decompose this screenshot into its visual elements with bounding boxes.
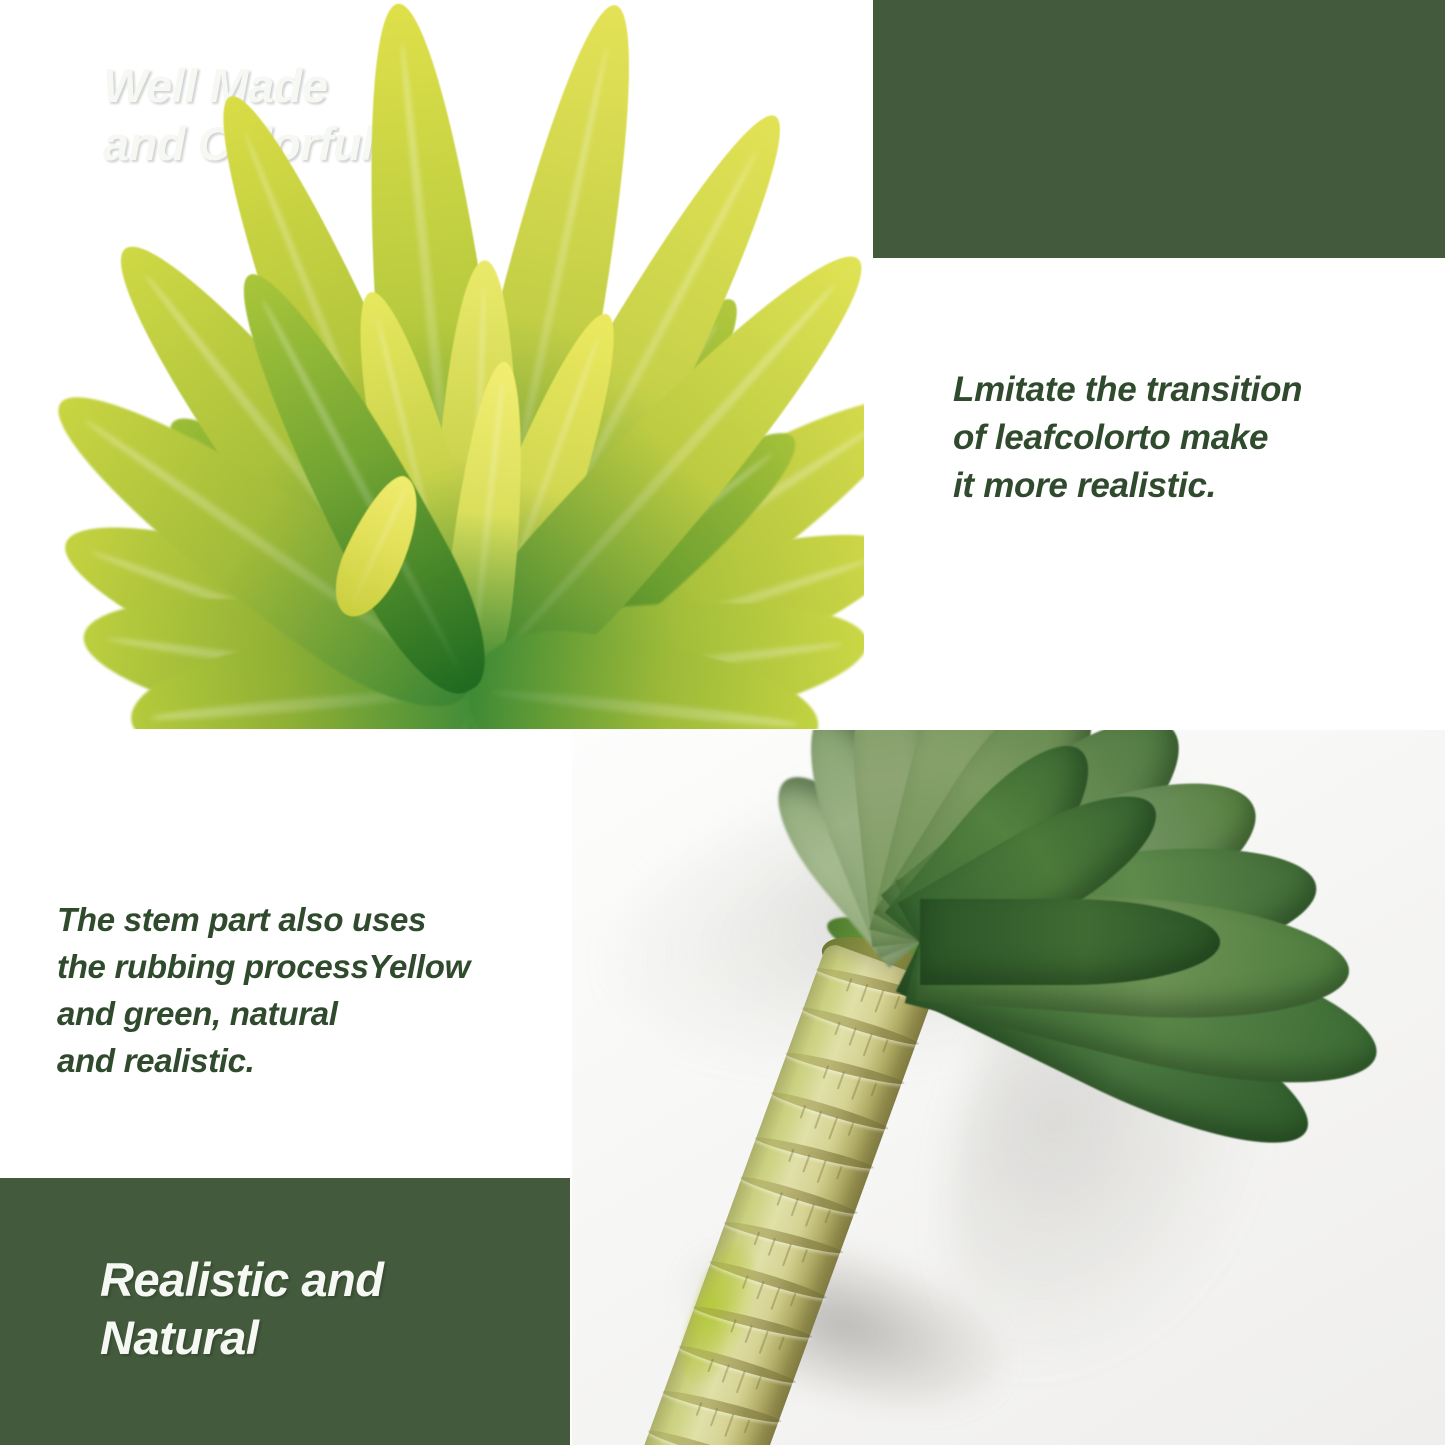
stem-scratch-mark bbox=[736, 1370, 746, 1393]
heading-realistic-and-natural: Realistic and Natural bbox=[100, 1251, 383, 1367]
stem-scratch-mark bbox=[894, 995, 901, 1009]
stem-scratch-mark bbox=[759, 1331, 769, 1354]
paragraph-stem-rubbing-process: The stem part also uses the rubbing proc… bbox=[57, 896, 557, 1084]
stem-scratch-mark bbox=[828, 1116, 838, 1139]
stem-scratch-mark bbox=[782, 1243, 792, 1266]
stem-scratch-mark bbox=[834, 1022, 841, 1036]
stem-ridge-band bbox=[784, 1048, 905, 1087]
stem-scratch-mark bbox=[710, 1408, 718, 1427]
stem-scratch-mark bbox=[744, 1420, 751, 1434]
stem-scratch-mark bbox=[837, 1071, 845, 1090]
stem-scratch-mark bbox=[778, 1336, 785, 1350]
stem-ridge-band bbox=[646, 1426, 766, 1445]
callout-block-well-made bbox=[873, 0, 1445, 258]
stem-scratch-mark bbox=[860, 984, 868, 1003]
stem-scratch-mark bbox=[776, 1192, 783, 1206]
stem-scratch-mark bbox=[770, 1287, 780, 1310]
stem-scratch-mark bbox=[851, 1077, 861, 1100]
stem-scratch-mark bbox=[817, 1160, 827, 1183]
stem-scratch-mark bbox=[848, 1027, 856, 1046]
stem-scratch-mark bbox=[790, 1293, 797, 1307]
stem-ridge-band bbox=[753, 1133, 874, 1172]
stem-scratch-mark bbox=[801, 1249, 808, 1263]
stem-scratch-mark bbox=[874, 990, 884, 1013]
stem-scratch-mark bbox=[836, 1166, 843, 1180]
stem-ridge-band bbox=[738, 1172, 858, 1217]
stem-scratch-mark bbox=[744, 1325, 752, 1344]
agave-leaf bbox=[920, 899, 1220, 985]
stem-scratch-mark bbox=[848, 1122, 855, 1136]
stem-scratch-mark bbox=[802, 1154, 810, 1173]
stem-scratch-mark bbox=[805, 1204, 815, 1227]
stem-ridge-band bbox=[660, 1387, 781, 1426]
photo-plant-stem-detail bbox=[572, 730, 1445, 1445]
infographic-canvas: Well Made and Colorful Lmitate the trans… bbox=[0, 0, 1445, 1445]
stem-scratch-mark bbox=[724, 1414, 734, 1437]
stem-ridge-band bbox=[800, 1003, 920, 1048]
stem-scratch-mark bbox=[768, 1237, 776, 1256]
stem-scratch-mark bbox=[756, 1281, 764, 1300]
stem-scratch-mark bbox=[814, 1111, 822, 1130]
paragraph-leaf-color-transition: Lmitate the transition of leafcolorto ma… bbox=[953, 366, 1393, 510]
stem-scratch-mark bbox=[824, 1209, 831, 1223]
stem-scratch-mark bbox=[791, 1198, 799, 1217]
stem-scratch-mark bbox=[870, 1083, 877, 1097]
stem-scratch-mark bbox=[863, 1033, 873, 1056]
stem-scratch-mark bbox=[755, 1376, 762, 1390]
stem-scratch-mark bbox=[882, 1039, 889, 1053]
